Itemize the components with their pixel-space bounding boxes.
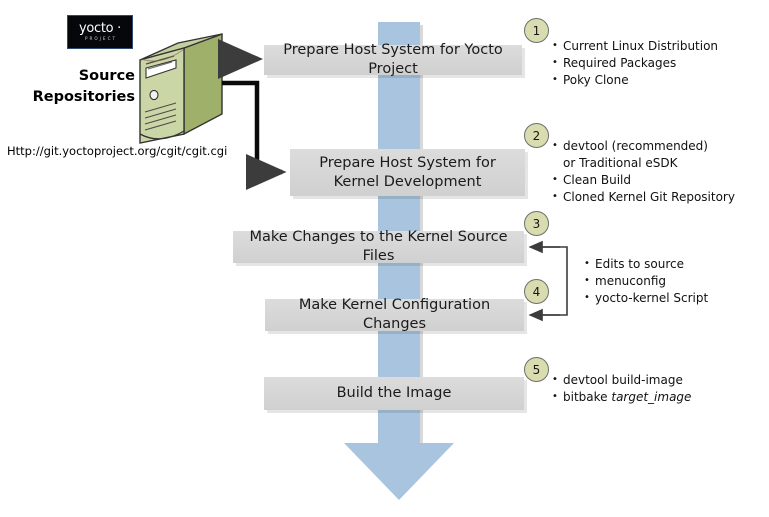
steps-3-4-bullet-list: Edits to sourcemenuconfigyocto-kernel Sc… [583, 256, 708, 307]
step-badge-1: 1 [524, 18, 549, 43]
step-badge-number: 4 [533, 285, 541, 299]
step-box-make-source-changes[interactable]: Make Changes to the Kernel Source Files [233, 231, 524, 263]
step-badge-3: 3 [524, 211, 549, 236]
step-badge-2: 2 [524, 123, 549, 148]
step-box-label: Prepare Host System for Yocto Project [270, 41, 516, 79]
step-box-label: Make Kernel Configuration Changes [271, 296, 518, 334]
step-box-build-image[interactable]: Build the Image [264, 377, 524, 410]
source-repositories-label: Source Repositories [0, 66, 135, 108]
step-badge-4: 4 [524, 279, 549, 304]
bullet-item: Cloned Kernel Git Repository [551, 189, 735, 206]
bullet-item: menuconfig [583, 273, 708, 290]
bullet-item: Poky Clone [551, 72, 718, 89]
bullet-item: devtool build-image [551, 372, 691, 389]
bullet-item: Required Packages [551, 55, 718, 72]
yocto-logo-wordmark: yocto · [79, 22, 121, 35]
step-box-label: Build the Image [337, 384, 452, 403]
source-repositories-label-line1: Source [0, 66, 135, 87]
step-box-prepare-host-yocto[interactable]: Prepare Host System for Yocto Project [264, 45, 522, 75]
step-5-bullet-list: devtool build-imagebitbake target_image [551, 372, 691, 406]
step-box-label: Prepare Host System for Kernel Developme… [296, 154, 519, 192]
source-repositories-label-line2: Repositories [0, 87, 135, 108]
bullet-item: bitbake target_image [551, 389, 691, 406]
bullet-item: Edits to source [583, 256, 708, 273]
step-badge-number: 2 [533, 129, 541, 143]
source-repository-url[interactable]: Http://git.yoctoproject.org/cgit/cgit.cg… [7, 144, 227, 158]
step-box-prepare-host-kernel[interactable]: Prepare Host System for Kernel Developme… [290, 149, 525, 196]
flow-arrow-head-icon [344, 443, 454, 500]
bullet-item: yocto-kernel Script [583, 290, 708, 307]
step-box-make-config-changes[interactable]: Make Kernel Configuration Changes [265, 299, 524, 331]
yocto-logo-subtext: PROJECT [85, 37, 117, 41]
yocto-project-logo: yocto · PROJECT [67, 15, 133, 49]
step-2-bullet-list: devtool (recommended) or Traditional eSD… [551, 138, 735, 206]
connector-server-to-step2 [222, 83, 282, 172]
bullet-item: Clean Build [551, 172, 735, 189]
step-badge-number: 1 [533, 24, 541, 38]
bullet-item-emphasis: target_image [611, 390, 691, 404]
step-box-label: Make Changes to the Kernel Source Files [239, 228, 518, 266]
step-badge-number: 5 [533, 363, 541, 377]
step-badge-5: 5 [524, 357, 549, 382]
server-tower-icon [134, 26, 226, 144]
bullet-item: Current Linux Distribution [551, 38, 718, 55]
step-1-bullet-list: Current Linux DistributionRequired Packa… [551, 38, 718, 89]
kernel-development-flow-diagram: yocto · PROJECT Source Repositories Http… [0, 0, 769, 517]
step-badge-number: 3 [533, 217, 541, 231]
bullet-item: devtool (recommended) or Traditional eSD… [551, 138, 723, 172]
